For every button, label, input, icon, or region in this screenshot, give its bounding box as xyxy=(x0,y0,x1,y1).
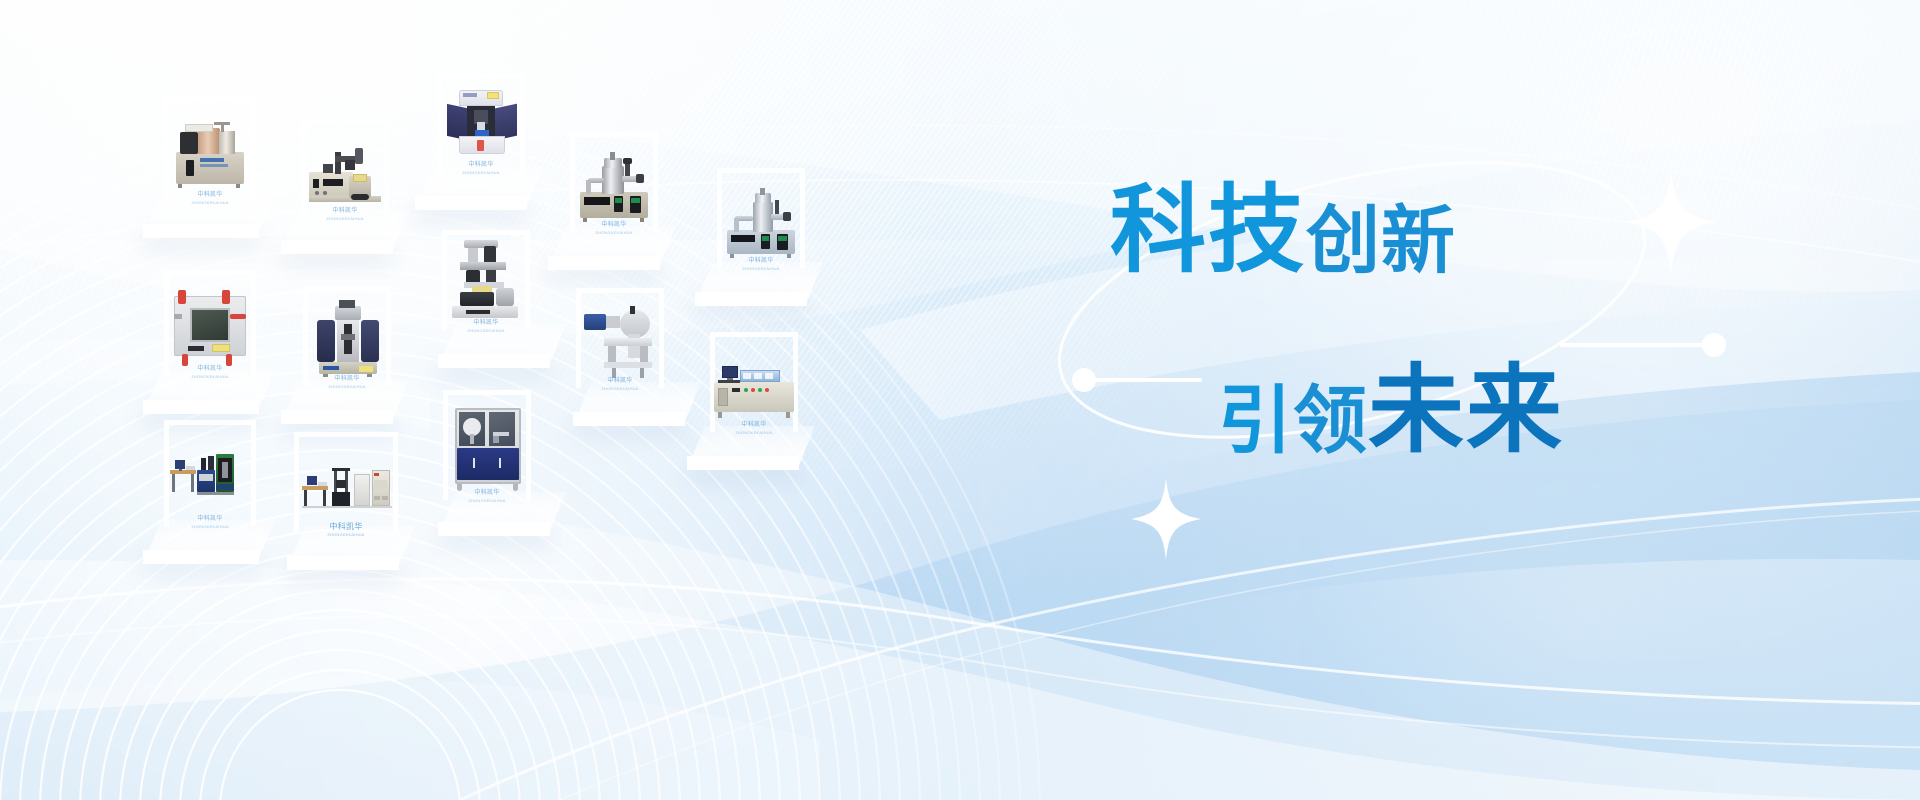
headline-char-3: 创 xyxy=(1306,204,1381,278)
machine-p4 xyxy=(578,152,650,222)
machine-p10 xyxy=(714,360,794,420)
pedestal-front-p1 xyxy=(143,224,259,238)
brand-logo-p11: 中科凯华 ZHONGKEKAIHUA xyxy=(191,516,228,529)
brand-logo-p3: 中科凯华 ZHONGKEKAIHUA xyxy=(462,162,499,175)
machine-p5 xyxy=(725,188,797,258)
product-card-p1[interactable]: 中科凯华 ZHONGKEKAIHUA xyxy=(164,96,256,202)
machine-p8 xyxy=(450,238,522,320)
machine-p9 xyxy=(584,306,656,378)
product-card-p7[interactable]: 中科凯华 ZHONGKEKAIHUA xyxy=(303,286,391,386)
product-card-p12[interactable]: 中科凯华 ZHONGKEKAIHUA xyxy=(294,432,398,532)
pedestal-front-p6 xyxy=(143,400,259,414)
brand-logo-p6: 中科凯华 ZHONGKEKAIHUA xyxy=(191,366,228,379)
product-card-p4[interactable]: 中科凯华 ZHONGKEKAIHUA xyxy=(570,132,658,232)
pedestal-front-p9 xyxy=(573,412,685,426)
pedestal-front-p8 xyxy=(438,354,550,368)
product-card-p6[interactable]: 中科凯华 ZHONGKEKAIHUA xyxy=(164,270,256,376)
product-card-p10[interactable]: 中科凯华 ZHONGKEKAIHUA xyxy=(710,332,798,432)
pedestal-front-p4 xyxy=(548,256,660,270)
brand-logo-p9: 中科凯华 ZHONGKEKAIHUA xyxy=(601,378,638,391)
machine-p6 xyxy=(172,290,248,364)
brand-logo-p7: 中科凯华 ZHONGKEKAIHUA xyxy=(328,376,365,389)
pedestal-front-p11 xyxy=(143,550,259,564)
brand-logo-p2: 中科凯华 ZHONGKEKAIHUA xyxy=(326,208,363,221)
headline-char-7: 未 xyxy=(1368,362,1466,458)
pedestal-front-p7 xyxy=(281,410,393,424)
product-card-p2[interactable]: 中科凯华 ZHONGKEKAIHUA xyxy=(301,118,389,218)
headline-line-1: 科 技 创 新 xyxy=(1110,182,1810,278)
brand-logo-p5: 中科凯华 ZHONGKEKAIHUA xyxy=(742,258,779,271)
pedestal-front-p5 xyxy=(695,292,807,306)
brand-logo-p4: 中科凯华 ZHONGKEKAIHUA xyxy=(595,222,632,235)
headline-char-2: 技 xyxy=(1208,182,1306,278)
brand-logo-p8: 中科凯华 ZHONGKEKAIHUA xyxy=(467,320,504,333)
brand-logo-p10: 中科凯华 ZHONGKEKAIHUA xyxy=(735,422,772,435)
product-card-p5[interactable]: 中科凯华 ZHONGKEKAIHUA xyxy=(717,168,805,268)
machine-p7 xyxy=(317,300,379,376)
hero-banner: 中科凯华 ZHONGKEKAIHUA 中科凯华 ZHONGKEKA xyxy=(0,0,1920,800)
product-card-p13[interactable]: 中科凯华 ZHONGKEKAIHUA xyxy=(443,390,531,500)
machine-p1 xyxy=(174,122,246,188)
pedestal-front-p3 xyxy=(415,196,527,210)
headline-char-4: 新 xyxy=(1381,204,1456,278)
headline-block: 科 技 创 新 引 领 未 来 xyxy=(1110,182,1810,458)
machine-p3 xyxy=(447,90,517,158)
brand-logo-p1: 中科凯华 ZHONGKEKAIHUA xyxy=(191,192,228,205)
pedestal-front-p13 xyxy=(438,522,550,536)
product-card-p9[interactable]: 中科凯华 ZHONGKEKAIHUA xyxy=(576,288,664,388)
orbit-node-dot-left xyxy=(1072,368,1096,392)
headline-line-2: 引 领 未 来 xyxy=(1110,362,1810,458)
brand-logo-p12: 中科凯华 ZHONGKEKAIHUA xyxy=(327,522,364,537)
machine-p13 xyxy=(455,408,521,494)
headline-char-6: 领 xyxy=(1293,384,1368,458)
machine-p11 xyxy=(170,452,250,508)
headline-char-5: 引 xyxy=(1218,384,1293,458)
machine-p2 xyxy=(309,146,381,208)
product-card-p8[interactable]: 中科凯华 ZHONGKEKAIHUA xyxy=(442,230,530,330)
machine-p12 xyxy=(302,464,392,520)
headline-char-8: 来 xyxy=(1466,362,1564,458)
sparkle-bottom-icon xyxy=(1131,478,1201,560)
pedestal-front-p2 xyxy=(281,240,393,254)
headline-char-1: 科 xyxy=(1110,182,1208,278)
brand-logo-p13: 中科凯华 ZHONGKEKAIHUA xyxy=(468,490,505,503)
pedestal-front-p10 xyxy=(687,456,799,470)
product-card-p3[interactable]: 中科凯华 ZHONGKEKAIHUA xyxy=(437,74,525,174)
product-card-p11[interactable]: 中科凯华 ZHONGKEKAIHUA xyxy=(164,420,256,526)
pedestal-front-p12 xyxy=(287,556,399,570)
